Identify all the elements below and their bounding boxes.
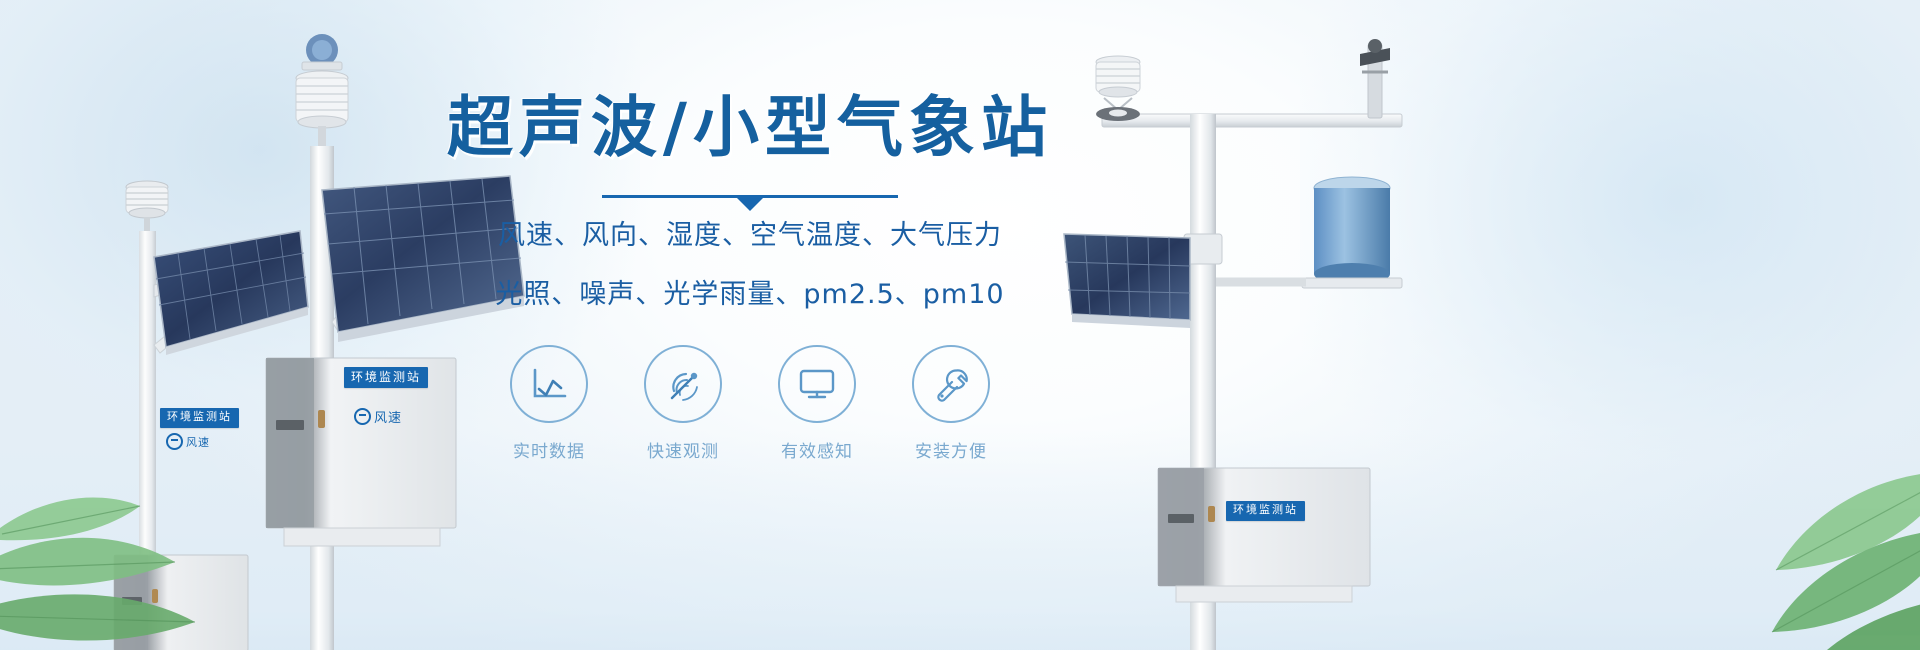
wind-vane-icon-right xyxy=(1360,39,1390,118)
title-divider xyxy=(602,195,898,198)
divider-triangle-icon xyxy=(737,198,763,211)
product-banner: 环境监测站 风速 xyxy=(0,0,1920,650)
feature-label: 快速观测 xyxy=(647,437,719,462)
cabinet-right xyxy=(1158,468,1370,602)
subtitle-line-2: 光照、噪声、光学雨量、pm2.5、pm10 xyxy=(440,273,1060,317)
solar-panel-right xyxy=(1064,234,1190,328)
ultrasonic-sensor-left xyxy=(126,181,168,233)
feature-item-effective-sensing[interactable]: 有效感知 xyxy=(775,345,859,462)
subtitle-line-1: 风速、风向、湿度、空气温度、大气压力 xyxy=(440,214,1060,258)
monitor-icon xyxy=(797,367,837,401)
brand-text: 风速 xyxy=(374,407,402,426)
feature-icon-circle xyxy=(644,345,722,423)
feature-item-fast-observation[interactable]: 快速观测 xyxy=(641,345,725,462)
decorative-leaf-left xyxy=(0,410,290,650)
feature-label: 实时数据 xyxy=(513,437,585,462)
page-title: 超声波/小型气象站 xyxy=(440,92,1060,165)
feature-list: 实时数据 快速观测 xyxy=(440,345,1060,462)
rain-gauge-right xyxy=(1216,177,1402,288)
cabinet-label-right: 环境监测站 xyxy=(1226,501,1305,521)
ultrasonic-sensor-right xyxy=(1096,56,1140,121)
feature-icon-circle xyxy=(778,345,856,423)
brand-mark-icon xyxy=(354,408,371,425)
feature-label: 安装方便 xyxy=(915,437,987,462)
feature-icon-circle xyxy=(510,345,588,423)
cross-arm xyxy=(1102,114,1402,127)
radar-signal-icon xyxy=(663,365,703,403)
feature-item-realtime-data[interactable]: 实时数据 xyxy=(507,345,591,462)
banner-content: 超声波/小型气象站 风速、风向、湿度、空气温度、大气压力 光照、噪声、光学雨量、… xyxy=(440,92,1060,462)
weather-station-right-illustration xyxy=(1040,38,1520,650)
line-chart-icon xyxy=(530,367,568,401)
feature-icon-circle xyxy=(912,345,990,423)
decorative-leaf-right xyxy=(1610,380,1920,650)
multi-sensor-head-center xyxy=(296,34,348,148)
brand-logo-center: 风速 xyxy=(354,407,402,426)
wrench-icon xyxy=(932,365,970,403)
feature-item-easy-installation[interactable]: 安装方便 xyxy=(909,345,993,462)
weather-station-right: 环境监测站 xyxy=(1040,38,1520,650)
feature-label: 有效感知 xyxy=(781,437,853,462)
cabinet-label-center: 环境监测站 xyxy=(344,367,428,388)
